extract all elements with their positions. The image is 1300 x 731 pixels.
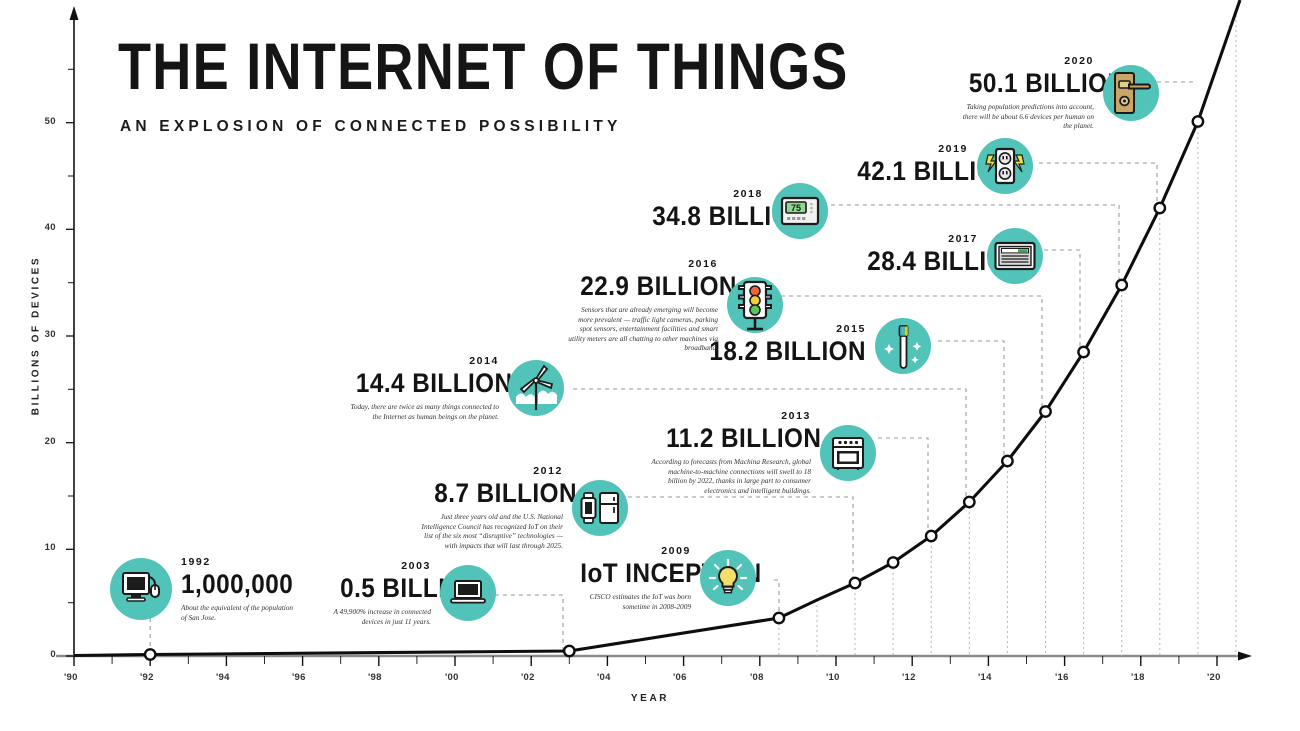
x-tick-90: '90 (64, 672, 78, 683)
infographic-canvas: THE INTERNET OF THINGS AN EXPLOSION OF C… (0, 0, 1300, 731)
callout-value: IoT INCEPTION (580, 558, 691, 588)
callout-2016[interactable]: 2016 22.9 BILLION Sensors that are alrea… (565, 258, 783, 353)
callout-value: 0.5 BILLION (340, 573, 431, 603)
callout-value: 8.7 BILLION (434, 478, 563, 508)
x-tick-04: '04 (597, 672, 611, 683)
toothbrush-icon (875, 318, 931, 374)
y-tick-50: 50 (30, 116, 56, 127)
callout-2009[interactable]: 2009 IoT INCEPTION CISCO estimates the I… (568, 545, 756, 611)
y-tick-20: 20 (30, 436, 56, 447)
x-tick-12: '12 (902, 672, 916, 683)
callout-value: 22.9 BILLION (580, 271, 718, 301)
lightbulb-icon (700, 550, 756, 606)
x-tick-14: '14 (978, 672, 992, 683)
y-tick-40: 40 (30, 222, 56, 233)
callout-description: Today, there are twice as many things co… (340, 402, 499, 421)
x-tick-98: '98 (368, 672, 382, 683)
callout-2003[interactable]: 2003 0.5 BILLION A 49,900% increase in c… (330, 560, 496, 626)
laptop-icon (440, 565, 496, 621)
x-tick-94: '94 (216, 672, 230, 683)
callout-2019[interactable]: 2019 42.1 BILLION (845, 138, 1033, 194)
smartwatch-refrigerator-icon (572, 480, 628, 536)
callout-year: 2017 (855, 233, 978, 246)
callout-year: 2018 (640, 188, 763, 201)
x-tick-00: '00 (445, 672, 459, 683)
door-lock-icon (1103, 65, 1159, 121)
y-tick-30: 30 (30, 329, 56, 340)
x-tick-96: '96 (292, 672, 306, 683)
x-tick-16: '16 (1055, 672, 1069, 683)
callout-value: 11.2 BILLION (666, 423, 811, 453)
thermostat-icon: 75 (772, 183, 828, 239)
callout-2018[interactable]: 2018 34.8 BILLION 75 (640, 183, 828, 239)
callout-value: 28.4 BILLION (867, 246, 978, 276)
thermostat-reading: 75 (791, 203, 801, 213)
oven-range-icon (820, 425, 876, 481)
callout-year: 1992 (181, 556, 306, 569)
page-subtitle: AN EXPLOSION OF CONNECTED POSSIBILITY (120, 118, 622, 136)
callout-value: 14.4 BILLION (356, 368, 499, 398)
x-tick-06: '06 (673, 672, 687, 683)
callout-description: Taking population predictions into accou… (955, 102, 1094, 131)
x-tick-10: '10 (826, 672, 840, 683)
callout-year: 2003 (330, 560, 431, 573)
callout-2020[interactable]: 2020 50.1 BILLION Taking population pred… (955, 55, 1159, 131)
y-tick-10: 10 (30, 542, 56, 553)
callout-description: About the equivalent of the population o… (181, 603, 299, 622)
callout-2012[interactable]: 2012 8.7 BILLION Just three years old an… (420, 465, 628, 550)
callout-description: CISCO estimates the IoT was born sometim… (568, 592, 691, 611)
callout-description: Sensors that are already emerging will b… (565, 305, 718, 353)
callout-year: 2013 (650, 410, 811, 423)
wind-turbine-icon (508, 360, 564, 416)
callout-year: 2016 (565, 258, 718, 271)
callout-year: 2019 (845, 143, 968, 156)
callout-year: 2014 (340, 355, 499, 368)
callout-description: Just three years old and the U.S. Nation… (420, 512, 563, 550)
callout-year: 2012 (420, 465, 563, 478)
air-conditioner-icon (987, 228, 1043, 284)
callout-description: According to forecasts from Machina Rese… (650, 457, 811, 495)
x-tick-20: '20 (1207, 672, 1221, 683)
traffic-light-icon (727, 277, 783, 333)
power-outlet-icon (977, 138, 1033, 194)
desktop-computer-mouse-icon (110, 558, 172, 620)
callout-value: 42.1 BILLION (857, 156, 968, 186)
callout-year: 2020 (955, 55, 1094, 68)
x-tick-18: '18 (1131, 672, 1145, 683)
page-title: THE INTERNET OF THINGS (118, 33, 849, 99)
callout-2013[interactable]: 2013 11.2 BILLION According to forecasts… (650, 410, 876, 495)
callout-value: 50.1 BILLION (969, 68, 1094, 98)
x-axis-label: YEAR (0, 693, 1300, 704)
callout-2017[interactable]: 2017 28.4 BILLION (855, 228, 1043, 284)
callout-2014[interactable]: 2014 14.4 BILLION Today, there are twice… (340, 355, 564, 421)
callout-value: 34.8 BILLION (652, 201, 763, 231)
callout-1992[interactable]: 1992 1,000,000 About the equivalent of t… (110, 556, 306, 622)
callout-value: 1,000,000 (181, 569, 293, 599)
x-tick-92: '92 (140, 672, 154, 683)
y-tick-0: 0 (30, 649, 56, 660)
callout-description: A 49,900% increase in connected devices … (330, 607, 431, 626)
x-tick-08: '08 (750, 672, 764, 683)
x-tick-02: '02 (521, 672, 535, 683)
